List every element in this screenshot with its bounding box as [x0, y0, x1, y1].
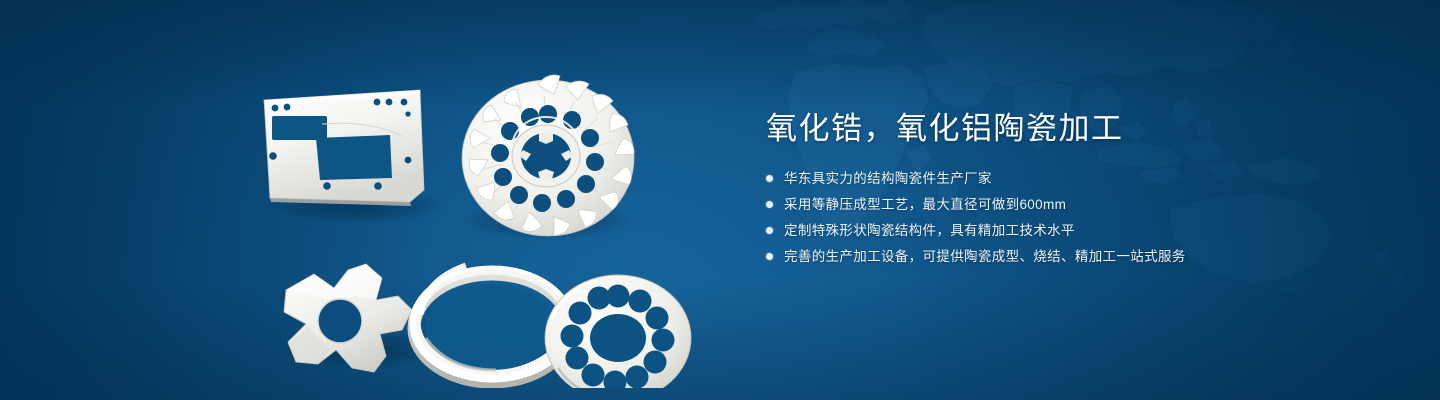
- list-item-label: 采用等静压成型工艺，最大直径可做到600mm: [784, 194, 1066, 215]
- bullet-dot-icon: [766, 175, 773, 182]
- ceramic-perforated-disc: [545, 275, 691, 388]
- list-item: 华东具实力的结构陶瓷件生产厂家: [766, 168, 1386, 189]
- bullet-dot-icon: [766, 253, 773, 260]
- list-item: 完善的生产加工设备，可提供陶瓷成型、烧结、精加工一站式服务: [766, 246, 1386, 267]
- feature-list: 华东具实力的结构陶瓷件生产厂家 采用等静压成型工艺，最大直径可做到600mm 定…: [766, 168, 1386, 267]
- bullet-dot-icon: [766, 227, 773, 234]
- page-title: 氧化锆，氧化铝陶瓷加工: [766, 108, 1386, 150]
- list-item-label: 华东具实力的结构陶瓷件生产厂家: [784, 168, 992, 189]
- list-item: 定制特殊形状陶瓷结构件，具有精加工技术水平: [766, 220, 1386, 241]
- hero-banner: 氧化锆，氧化铝陶瓷加工 华东具实力的结构陶瓷件生产厂家 采用等静压成型工艺，最大…: [0, 0, 1440, 400]
- list-item: 采用等静压成型工艺，最大直径可做到600mm: [766, 194, 1386, 215]
- list-item-label: 完善的生产加工设备，可提供陶瓷成型、烧结、精加工一站式服务: [784, 246, 1186, 267]
- banner-copy: 氧化锆，氧化铝陶瓷加工 华东具实力的结构陶瓷件生产厂家 采用等静压成型工艺，最大…: [766, 108, 1386, 272]
- list-item-label: 定制特殊形状陶瓷结构件，具有精加工技术水平: [784, 220, 1075, 241]
- product-photo-group: [230, 38, 710, 388]
- bullet-dot-icon: [766, 201, 773, 208]
- ceramic-impeller: [462, 75, 634, 236]
- ceramic-plate: [264, 90, 424, 206]
